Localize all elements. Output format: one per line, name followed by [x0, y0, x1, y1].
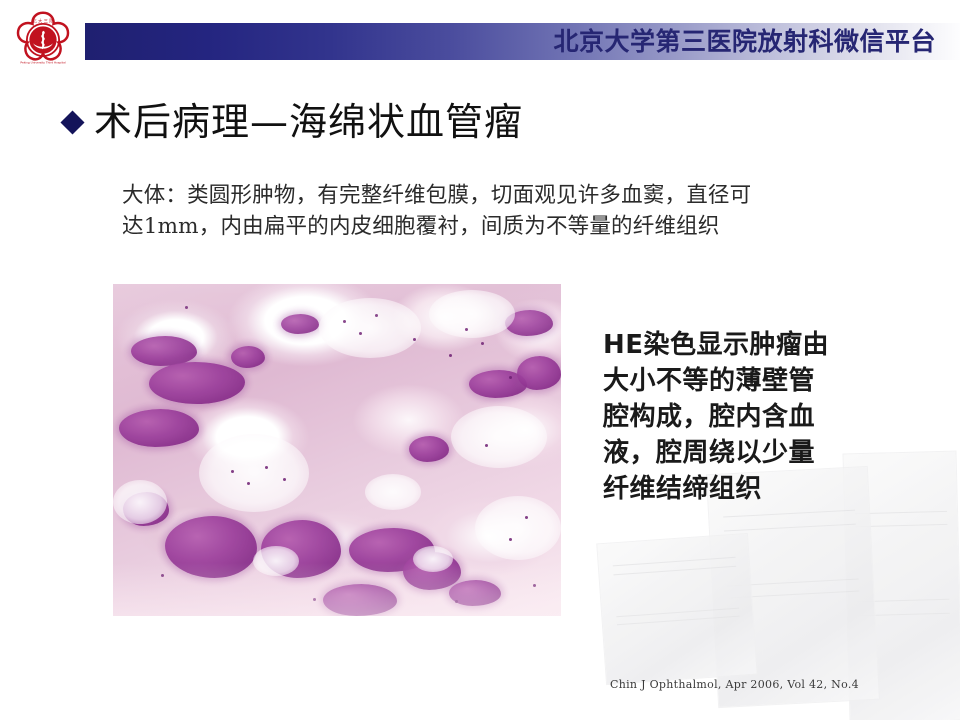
thin-walled-vascular-space	[413, 546, 453, 572]
gross-description-text: 大体：类圆形肿物，有完整纤维包膜，切面观见许多血窦，直径可达1mm，内由扁平的内…	[122, 180, 762, 242]
presentation-slide: 北 大 三 院 Peking University Third Hospital…	[0, 0, 960, 720]
vascular-lumen	[409, 436, 449, 462]
vascular-lumen	[323, 584, 397, 616]
svg-text:北 大 三 院: 北 大 三 院	[32, 18, 54, 25]
vascular-lumen	[165, 516, 257, 578]
histology-micrograph-image	[113, 284, 561, 616]
thin-walled-vascular-space	[475, 496, 561, 560]
thin-walled-vascular-space	[253, 546, 299, 576]
thin-walled-vascular-space	[365, 474, 421, 510]
thin-walled-vascular-space	[199, 434, 309, 512]
header-platform-title: 北京大学第三医院放射科微信平台	[553, 26, 936, 58]
vascular-lumen	[517, 356, 561, 390]
vascular-lumen	[231, 346, 265, 368]
svg-text:Peking University Third Hospit: Peking University Third Hospital	[20, 61, 66, 65]
background-ghost-page-left	[596, 533, 758, 685]
thin-walled-vascular-space	[451, 406, 547, 468]
diamond-bullet-icon	[60, 110, 84, 134]
thin-walled-vascular-space	[429, 290, 515, 338]
page-title: 术后病理—海绵状血管瘤	[94, 99, 523, 145]
slide-title-row: 术后病理—海绵状血管瘤	[64, 99, 523, 145]
vascular-lumen	[281, 314, 319, 334]
vascular-lumen	[119, 409, 199, 447]
he-stain-description-text: HE染色显示肿瘤由大小不等的薄壁管腔构成，腔内含血液，腔周绕以少量纤维结缔组织	[603, 327, 835, 507]
journal-citation: Chin J Ophthalmol, Apr 2006, Vol 42, No.…	[610, 678, 859, 692]
vascular-lumen	[149, 362, 245, 404]
hospital-logo-icon: 北 大 三 院 Peking University Third Hospital	[12, 9, 74, 71]
thin-walled-vascular-space	[319, 298, 421, 358]
thin-walled-vascular-space	[113, 480, 167, 524]
